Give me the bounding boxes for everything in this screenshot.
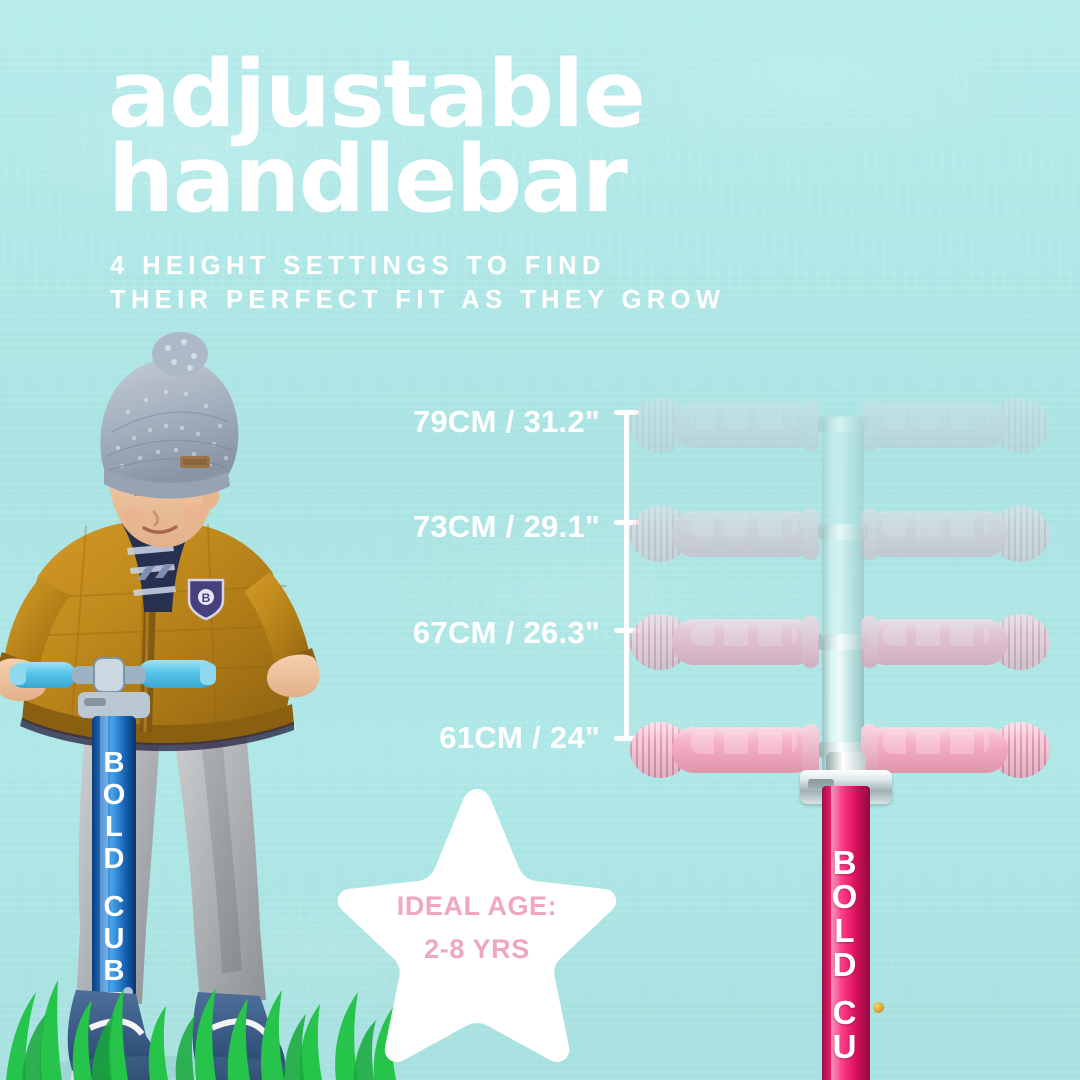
grip-bumps — [882, 516, 990, 538]
grip-collar — [802, 724, 819, 776]
handlebar-position-79cm — [630, 396, 1050, 454]
grip-left-73cm — [630, 505, 816, 563]
grip-bumps — [690, 516, 798, 538]
grip-bumps — [690, 624, 798, 646]
ideal-age-badge: IDEAL AGE: 2-8 YRS — [331, 781, 623, 1073]
grip-left-67cm — [630, 613, 816, 671]
grip-collar — [802, 399, 819, 451]
grip-bumps — [882, 407, 990, 429]
brand-letter-d: D — [822, 948, 870, 982]
stem-screw — [873, 1002, 884, 1013]
brand-label-vertical: B O L D C U — [822, 846, 870, 1064]
badge-line-2: 2-8 YRS — [331, 928, 623, 971]
badge-text: IDEAL AGE: 2-8 YRS — [331, 885, 623, 970]
badge-line-1: IDEAL AGE: — [331, 885, 623, 928]
brand-letter-c: C — [822, 996, 870, 1030]
grip-collar — [861, 508, 878, 560]
handlebar-position-73cm — [630, 505, 1050, 563]
grip-bumps — [882, 732, 990, 754]
grip-collar — [861, 616, 878, 668]
brand-letter-b: B — [822, 846, 870, 880]
grip-collar — [861, 399, 878, 451]
grip-bumps — [882, 624, 990, 646]
brand-letter-l: L — [822, 914, 870, 948]
infographic-canvas: B — [0, 0, 1080, 1080]
handlebar-position-67cm — [630, 613, 1050, 671]
brand-letter-u: U — [822, 1030, 870, 1064]
grip-collar — [802, 508, 819, 560]
grip-bumps — [690, 732, 798, 754]
brand-letter-o: O — [822, 880, 870, 914]
grip-right-73cm — [864, 505, 1050, 563]
grip-right-67cm — [864, 613, 1050, 671]
grip-bumps — [690, 407, 798, 429]
grip-collar — [802, 616, 819, 668]
grip-right-79cm — [864, 396, 1050, 454]
grip-left-79cm — [630, 396, 816, 454]
grip-left-61cm — [630, 721, 816, 779]
grip-right-61cm — [864, 721, 1050, 779]
